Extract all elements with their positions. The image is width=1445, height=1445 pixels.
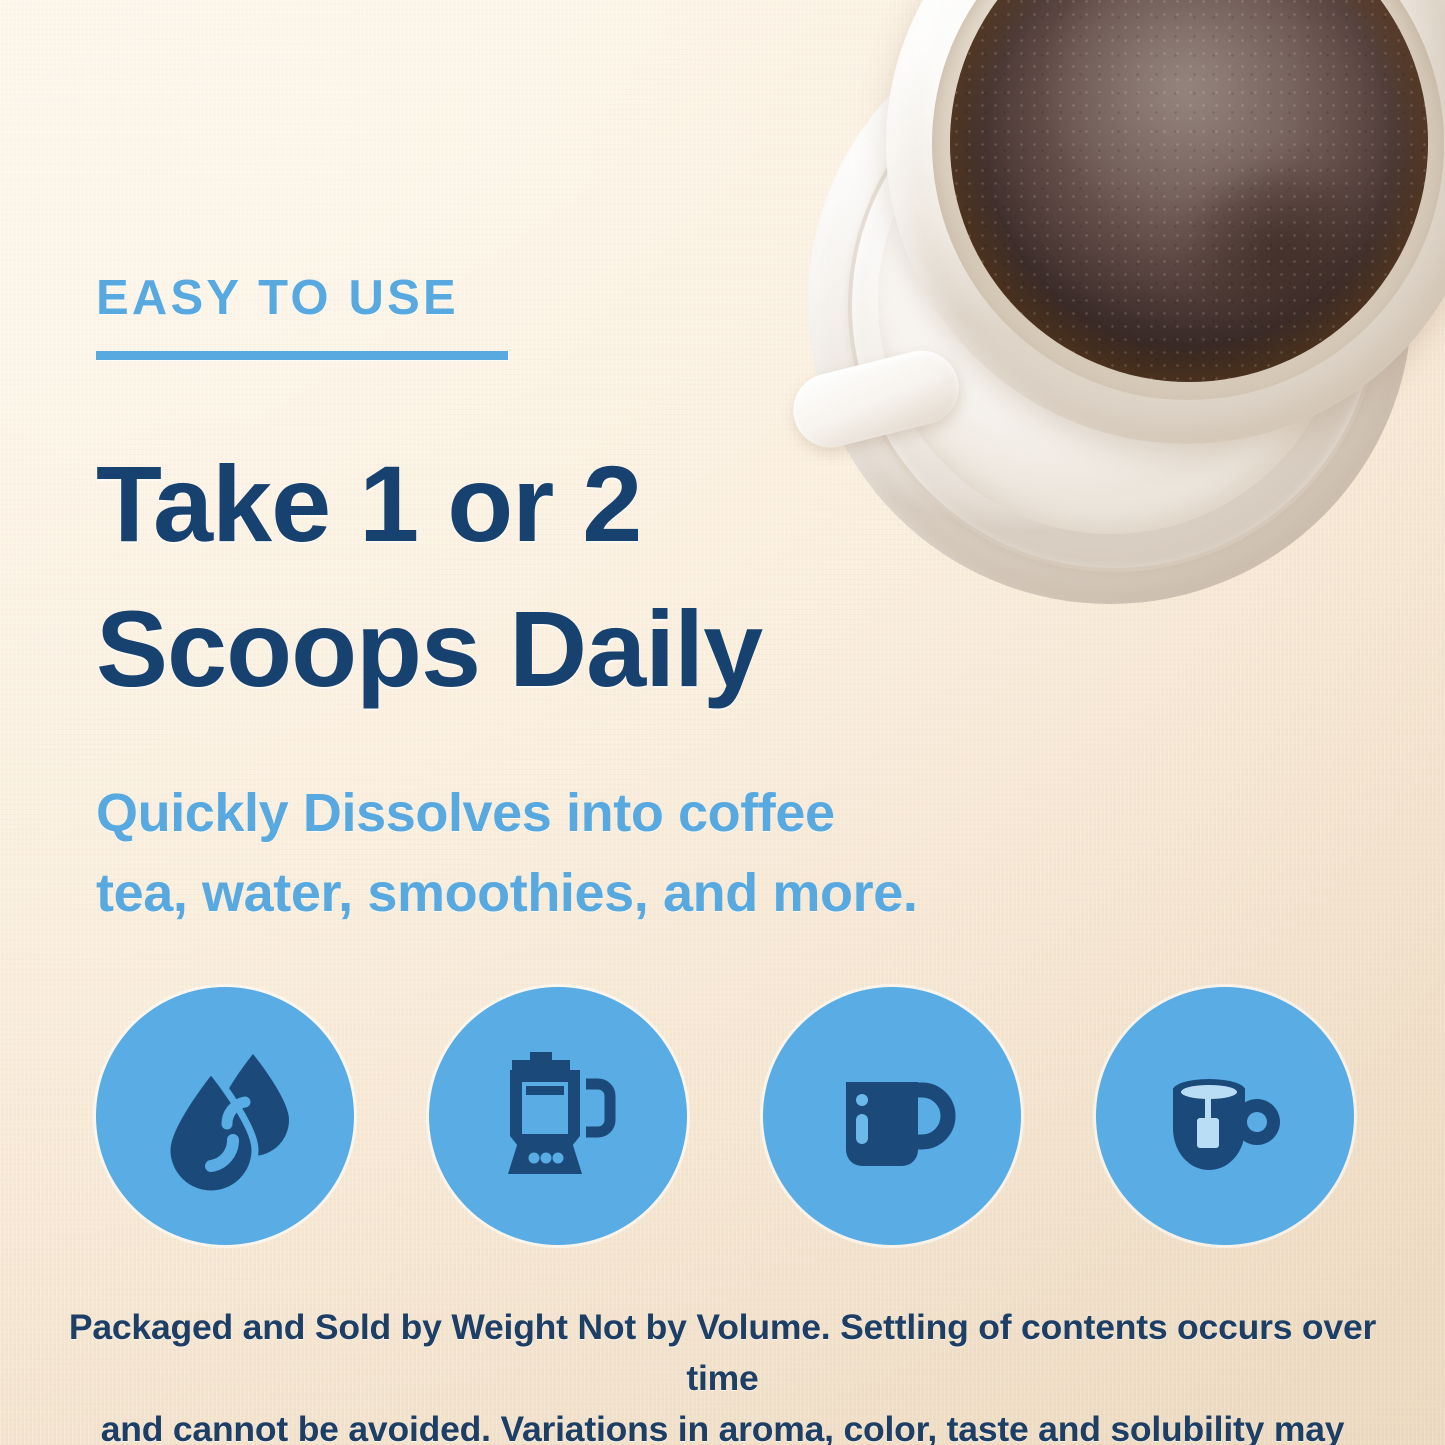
eyebrow-label: EASY TO USE bbox=[96, 270, 459, 326]
disclaimer-line-2: and cannot be avoided. Variations in aro… bbox=[50, 1404, 1395, 1445]
page-title: Take 1 or 2 Scoops Daily bbox=[96, 432, 996, 721]
subheading-line-1: Quickly Dissolves into coffee bbox=[96, 783, 835, 843]
coffee-surface bbox=[950, 0, 1428, 382]
subheading: Quickly Dissolves into coffee tea, water… bbox=[96, 774, 1276, 934]
water-drops-icon bbox=[149, 1040, 301, 1192]
icon-badge-mug bbox=[763, 987, 1021, 1245]
disclaimer-line-1: Packaged and Sold by Weight Not by Volum… bbox=[69, 1307, 1376, 1398]
eyebrow-underline bbox=[96, 351, 508, 360]
headline-line-2: Scoops Daily bbox=[96, 577, 996, 722]
crema-speckle bbox=[950, 0, 1428, 382]
disclaimer-text: Packaged and Sold by Weight Not by Volum… bbox=[50, 1302, 1395, 1445]
usage-icon-row bbox=[96, 985, 1354, 1247]
blender-icon bbox=[482, 1040, 634, 1192]
subheading-line-2: tea, water, smoothies, and more. bbox=[96, 854, 1276, 934]
headline-line-1: Take 1 or 2 bbox=[96, 443, 641, 564]
teacup-icon bbox=[1149, 1040, 1301, 1192]
icon-badge-water bbox=[96, 987, 354, 1245]
icon-badge-teacup bbox=[1096, 987, 1354, 1245]
icon-badge-blender bbox=[429, 987, 687, 1245]
product-infographic: EASY TO USE Take 1 or 2 Scoops Daily Qui… bbox=[0, 0, 1445, 1445]
coffee-mug-icon bbox=[816, 1040, 968, 1192]
